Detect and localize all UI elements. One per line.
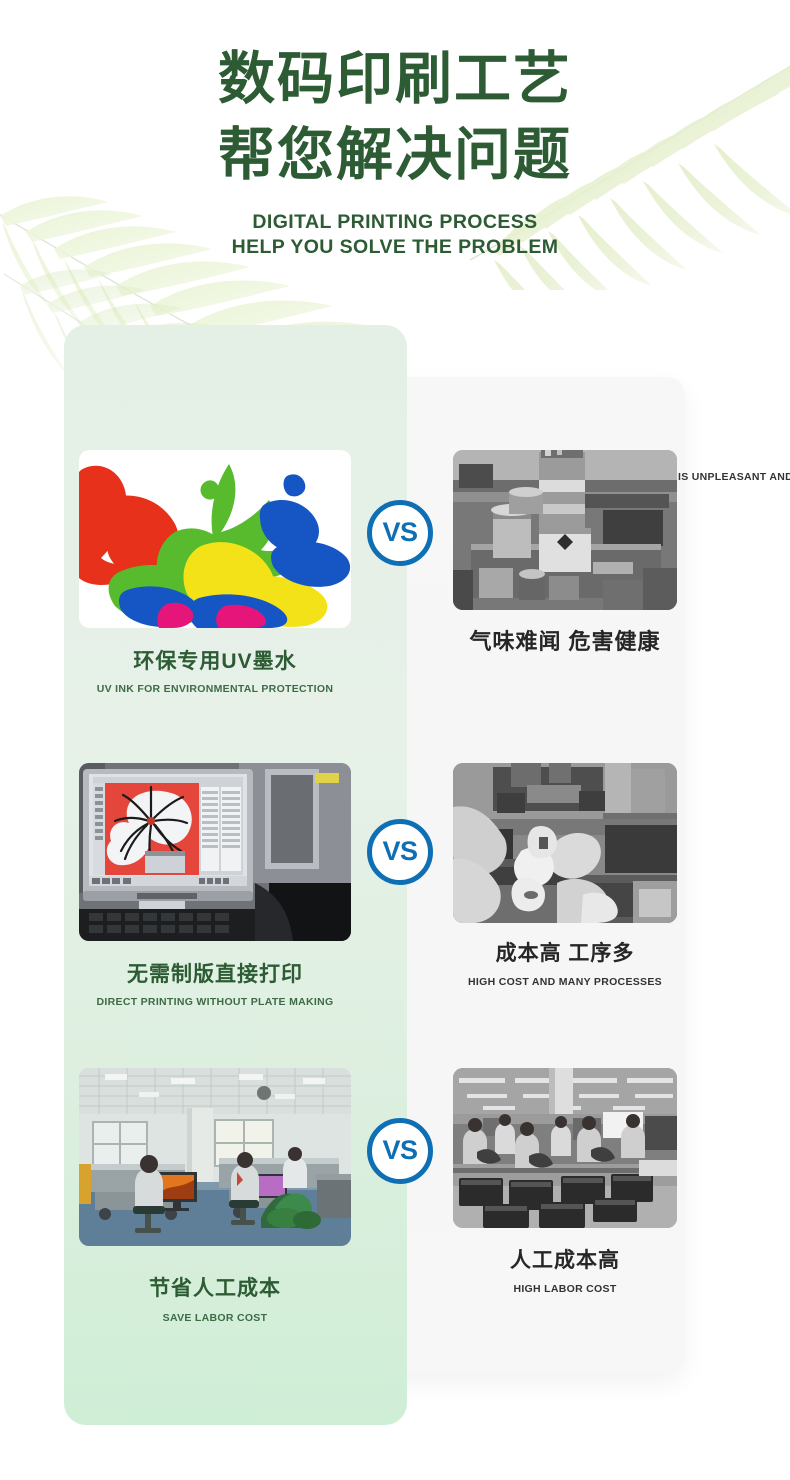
advantage-caption-cn: 无需制版直接打印 (79, 958, 351, 988)
disadvantage-item: 气味难闻 危害健康 (453, 450, 677, 656)
disadvantage-caption-en: HIGH LABOR COST (453, 1283, 677, 1295)
disadvantage-caption-cn: 气味难闻 危害健康 (453, 624, 677, 656)
vs-label: VS (382, 519, 417, 546)
manual-plate-making-photo (453, 763, 677, 923)
crowded-assembly-line-photo (453, 1068, 677, 1228)
advantage-caption-en: SAVE LABOR COST (79, 1312, 351, 1324)
page-root: 数码印刷工艺 帮您解决问题 DIGITAL PRINTING PROCESS H… (0, 0, 790, 1480)
disadvantage-caption-cn: 成本高 工序多 (453, 937, 677, 967)
disadvantage-item: 成本高 工序多 HIGH COST AND MANY PROCESSES (453, 763, 677, 988)
design-software-monitor-photo (79, 763, 351, 941)
disadvantage-caption-cn: 人工成本高 (453, 1244, 677, 1274)
page-title-line2: 帮您解决问题 (0, 118, 790, 192)
page-title-line1: 数码印刷工艺 (0, 42, 790, 116)
automated-printing-workshop-photo (79, 1068, 351, 1246)
advantage-item: 无需制版直接打印 DIRECT PRINTING WITHOUT PLATE M… (79, 763, 351, 1008)
vs-badge: VS (367, 500, 433, 566)
dirty-paint-buckets-photo (453, 450, 677, 610)
advantage-item: 环保专用UV墨水 UV INK FOR ENVIRONMENTAL PROTEC… (79, 450, 351, 695)
advantage-caption-cn: 环保专用UV墨水 (79, 645, 351, 675)
vs-badge: VS (367, 819, 433, 885)
advantage-caption-cn: 节省人工成本 (79, 1272, 351, 1302)
advantage-item: 节省人工成本 SAVE LABOR COST (79, 1068, 351, 1324)
vs-badge: VS (367, 1118, 433, 1184)
page-header: 数码印刷工艺 帮您解决问题 DIGITAL PRINTING PROCESS H… (0, 0, 790, 260)
disadvantage-caption-en-clipped: IS UNPLEASANT AND HAR (678, 471, 790, 483)
vs-label: VS (382, 1137, 417, 1164)
advantage-caption-en: UV INK FOR ENVIRONMENTAL PROTECTION (79, 683, 351, 695)
disadvantage-caption-en: HIGH COST AND MANY PROCESSES (453, 976, 677, 988)
advantage-caption-en: DIRECT PRINTING WITHOUT PLATE MAKING (79, 996, 351, 1008)
disadvantage-item: 人工成本高 HIGH LABOR COST (453, 1068, 677, 1295)
colorful-ink-splash-photo (79, 450, 351, 628)
page-subtitle-line1: DIGITAL PRINTING PROCESS (0, 210, 790, 235)
vs-label: VS (382, 838, 417, 865)
page-subtitle-line2: HELP YOU SOLVE THE PROBLEM (0, 235, 790, 260)
